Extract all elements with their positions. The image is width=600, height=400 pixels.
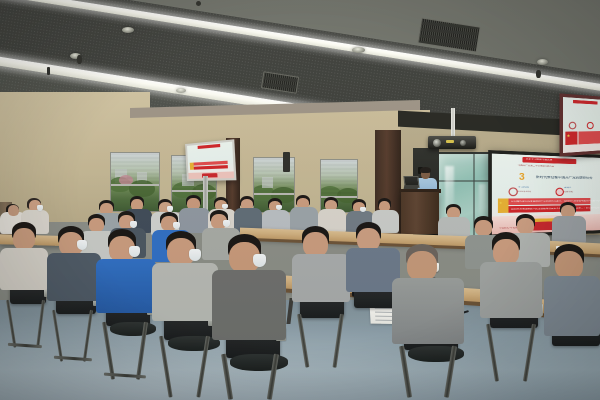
face-mask	[129, 246, 140, 257]
presenter-hair	[420, 167, 431, 173]
attendee-torso	[212, 270, 286, 340]
face-mask	[189, 249, 201, 261]
face-mask	[253, 254, 266, 267]
sprinkler-head	[536, 70, 541, 78]
slide-header-text: 党史学习教育专题党课	[526, 158, 552, 161]
display-stand-pole	[203, 176, 208, 210]
attendee-torso	[152, 263, 218, 321]
slide-body-band-1: 以中国式现代化全面推进中华民族伟大复兴，是新时代新征程中国共产党的中心任务	[509, 198, 591, 205]
attendee-torso	[480, 262, 542, 318]
slide-body-text-2: 团结带领全国各族人民全面建成社会主义现代化强国、实现第二个百年奋斗目标	[511, 207, 600, 211]
recessed-downlight	[176, 88, 186, 93]
attendee-head	[407, 251, 437, 281]
attendee-torso	[292, 254, 350, 302]
attendee-torso	[47, 253, 101, 301]
slide-subtitle: 中国共产党第二十次全国代表大会	[518, 164, 554, 167]
attendee-head	[13, 228, 35, 250]
slide-bullet-two-value: 党委书记	[564, 191, 573, 193]
clock-icon	[509, 187, 518, 196]
slide-body-band-2: 团结带领全国各族人民全面建成社会主义现代化强国、实现第二个百年奋斗目标	[509, 205, 591, 213]
sprinkler-head	[77, 55, 82, 64]
red-flag-graphic: ★	[498, 198, 509, 213]
slide-bullet-two-label: 主讲人	[564, 187, 571, 190]
ceiling-projector	[428, 136, 476, 149]
slide-bullet-one-value: 2022年10月	[518, 191, 531, 193]
attendee-torso	[544, 276, 600, 336]
chair-seat	[230, 354, 288, 371]
recessed-downlight	[352, 47, 365, 53]
attendee-torso	[96, 259, 156, 313]
conference-room-photo: 党史学习教育专题党课 中国共产党第二十次全国代表大会 3 新时代新征程中国共产党…	[0, 0, 600, 400]
corner-wall-display-right: ★	[560, 93, 600, 156]
auxiliary-display-left	[185, 139, 236, 181]
attendee-torso	[0, 248, 48, 290]
slide-section-heading: 新时代新征程中国共产党的使命任务	[536, 176, 593, 181]
slide-bullet-one-label: 学习时间	[518, 186, 529, 189]
wooden-lectern[interactable]	[401, 192, 439, 234]
face-mask	[77, 240, 87, 250]
recessed-downlight	[537, 59, 548, 65]
speaker-icon	[555, 188, 563, 196]
attendee-torso	[392, 278, 464, 344]
projector-mount-pole	[451, 108, 455, 138]
slide-section-number: 3	[519, 172, 525, 182]
slide-header-banner: 党史学习教育专题党课	[522, 157, 576, 164]
sprinkler-head	[47, 67, 50, 75]
projector-label	[446, 140, 454, 143]
recessed-downlight	[122, 27, 134, 33]
sprinkler-head	[196, 1, 201, 6]
slide-body-text-1: 以中国式现代化全面推进中华民族伟大复兴，是新时代新征程中国共产党的中心任务	[511, 200, 600, 203]
chair-seat	[110, 322, 156, 336]
roller-blind[interactable]	[321, 160, 357, 198]
attendee-head	[555, 251, 583, 279]
wall-speaker	[283, 152, 290, 172]
roller-blind[interactable]	[111, 153, 159, 186]
